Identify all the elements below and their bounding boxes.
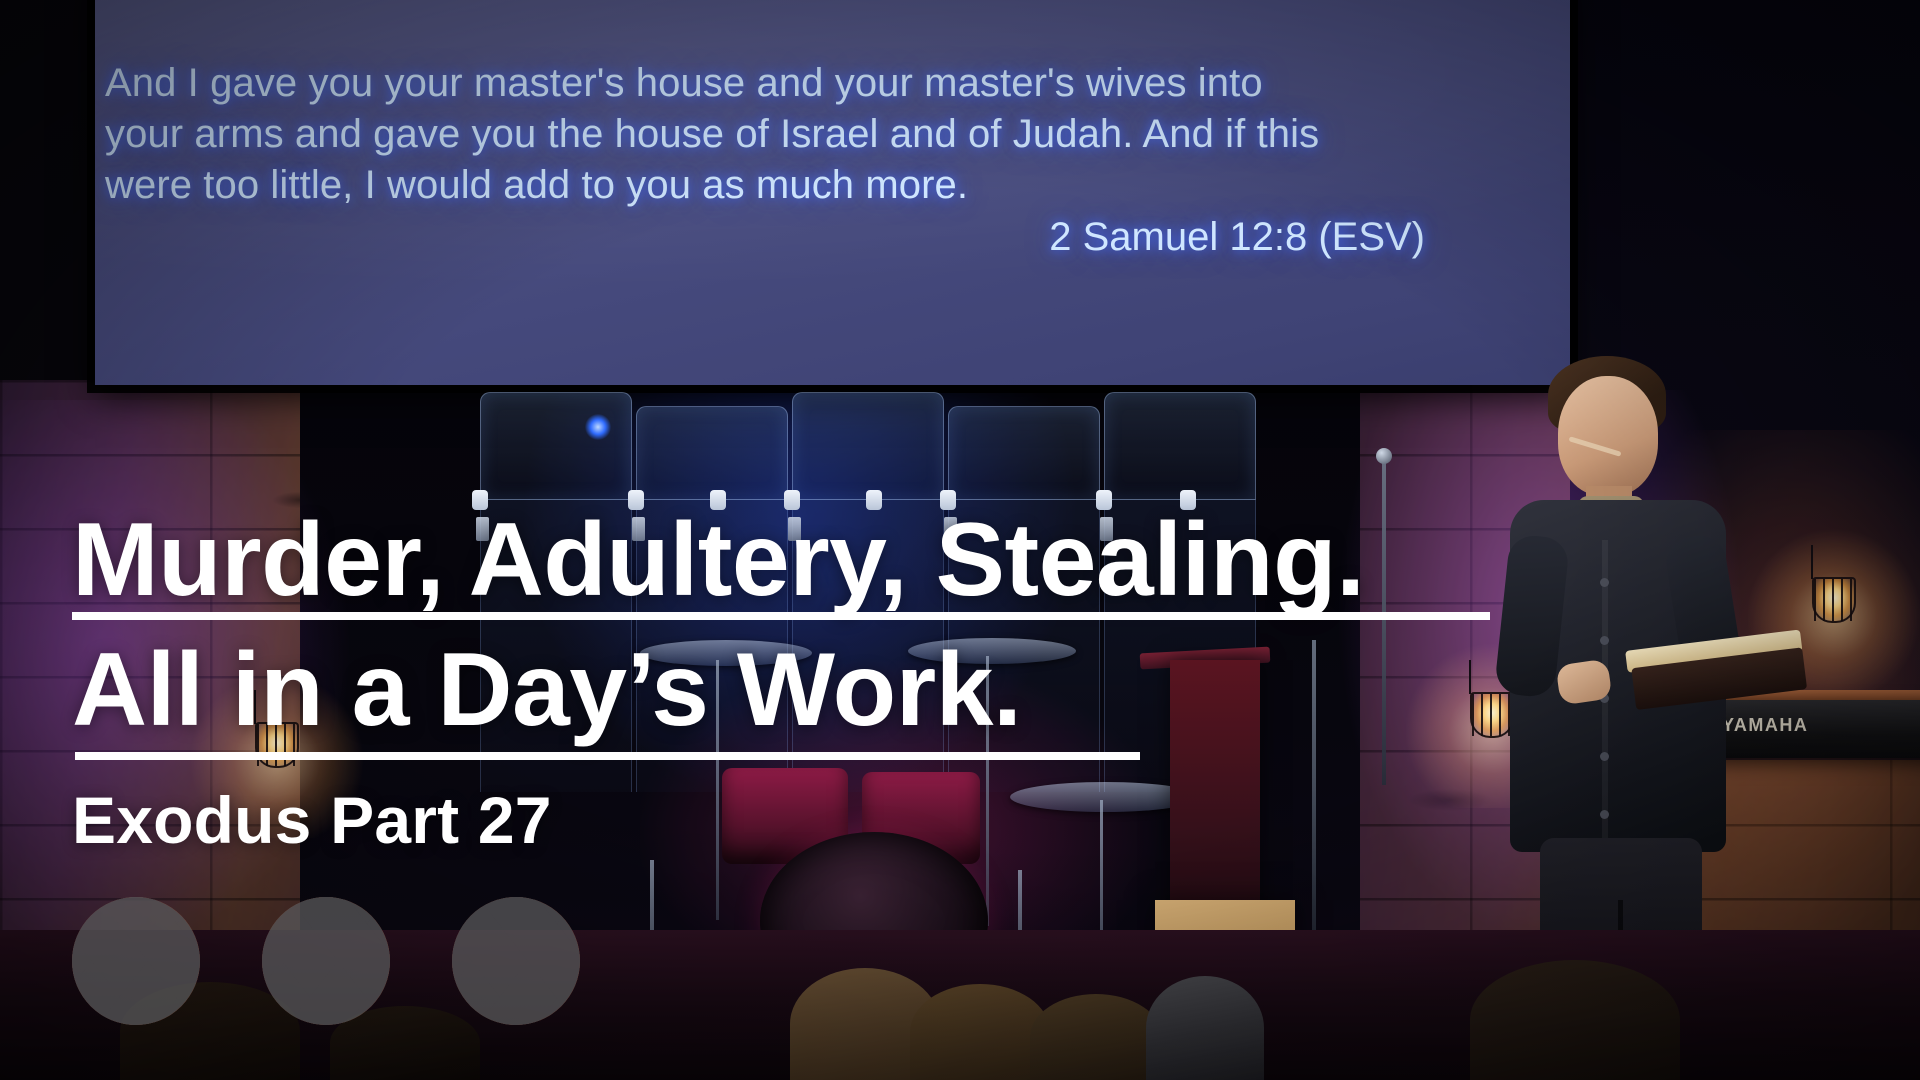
sermon-title-line-2: All in a Day’s Work. xyxy=(72,638,1021,742)
sermon-title-line-1: Murder, Adultery, Stealing. xyxy=(72,508,1365,612)
sermon-series-subtitle: Exodus Part 27 xyxy=(72,787,552,853)
title-underline-1 xyxy=(72,612,1490,620)
chevron-logo-icon xyxy=(72,897,200,1025)
video-frame: And I gave you your master's house and y… xyxy=(0,0,1920,1080)
chevron-logo-icon xyxy=(452,897,580,1025)
chevron-logo-icon xyxy=(262,897,390,1025)
title-overlay: Murder, Adultery, Stealing. All in a Day… xyxy=(0,0,1920,1080)
title-underline-2 xyxy=(75,752,1140,760)
